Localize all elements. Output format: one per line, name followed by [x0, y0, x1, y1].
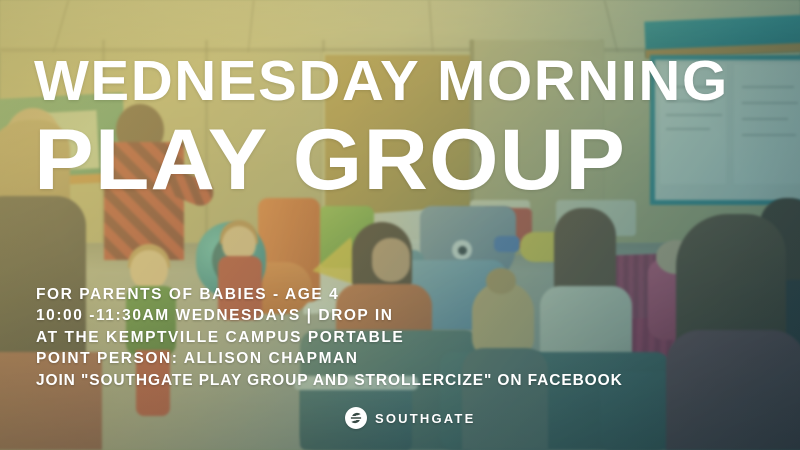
detail-line-facebook: JOIN "SOUTHGATE PLAY GROUP AND STROLLERC…: [36, 370, 623, 391]
headline-line-2: PLAY GROUP: [34, 120, 626, 201]
headline-line-1: WEDNESDAY MORNING: [34, 55, 729, 109]
detail-line-audience: FOR PARENTS OF BABIES - AGE 4: [36, 284, 623, 305]
detail-line-contact: POINT PERSON: ALLISON CHAPMAN: [36, 348, 623, 369]
southgate-logo: SOUTHGATE: [345, 407, 475, 429]
poster-content: WEDNESDAY MORNING PLAY GROUP FOR PARENTS…: [0, 0, 800, 450]
details-block: FOR PARENTS OF BABIES - AGE 4 10:00 -11:…: [36, 284, 623, 391]
southgate-logo-text: SOUTHGATE: [375, 411, 475, 426]
detail-line-time: 10:00 -11:30AM WEDNESDAYS | DROP IN: [36, 305, 623, 326]
southgate-s-icon: [345, 407, 367, 429]
poster: WEDNESDAY MORNING PLAY GROUP FOR PARENTS…: [0, 0, 800, 450]
detail-line-location: AT THE KEMPTVILLE CAMPUS PORTABLE: [36, 327, 623, 348]
